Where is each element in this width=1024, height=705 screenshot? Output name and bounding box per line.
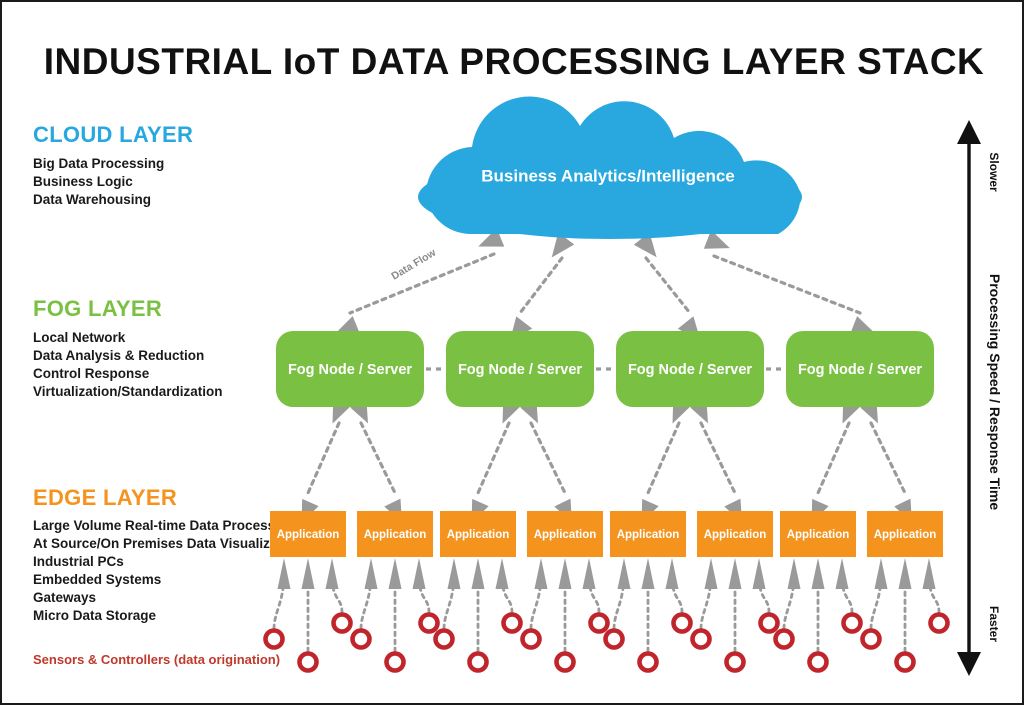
sensor-link-arrow <box>413 558 426 589</box>
app-fog-link <box>478 423 509 493</box>
sensor-node-22[interactable] <box>897 654 914 671</box>
axis-middle-label: Processing Speed / Response Time <box>987 274 1003 510</box>
fog-bullet-0: Local Network <box>33 330 126 345</box>
application-node-6[interactable]: Application <box>780 511 856 557</box>
sensor-link-arrow <box>899 558 912 589</box>
app-fog-link <box>531 423 565 493</box>
sensor-node-2[interactable] <box>334 615 351 632</box>
sidebar-section-edge: EDGE LAYER Large Volume Real-time Data P… <box>33 485 302 667</box>
sidebar-section-fog: FOG LAYER Local Network Data Analysis & … <box>33 296 223 399</box>
sensor-link-arrow <box>729 558 742 589</box>
sensor-link-arrow <box>535 558 548 589</box>
sensor-link-arrow <box>496 558 509 589</box>
application-node-group: ApplicationApplicationApplicationApplica… <box>270 511 943 557</box>
fog-cloud-arrow-up <box>704 230 734 257</box>
application-label: Application <box>617 529 680 541</box>
sensor-node-12[interactable] <box>606 631 623 648</box>
sensor-node-1[interactable] <box>300 654 317 671</box>
fog-cloud-link <box>714 256 860 313</box>
sensor-link-arrow <box>302 558 315 589</box>
sensor-link-arrow <box>365 558 378 589</box>
cloud-bullet-0: Big Data Processing <box>33 156 164 171</box>
fog-bullet-3: Virtualization/Standardization <box>33 384 223 399</box>
cloud-node[interactable]: Business Analytics/Intelligence <box>418 97 802 239</box>
edge-bullet-5: Micro Data Storage <box>33 608 157 623</box>
application-node-0[interactable]: Application <box>270 511 346 557</box>
sensor-link-arrow <box>812 558 825 589</box>
data-flow-label: Data Flow <box>389 246 438 282</box>
sensor-node-10[interactable] <box>557 654 574 671</box>
sensor-link-arrow <box>472 558 485 589</box>
sensor-link-arrow <box>923 558 936 589</box>
edge-bullet-2: Industrial PCs <box>33 554 124 569</box>
sensor-node-15[interactable] <box>693 631 710 648</box>
app-fog-link <box>308 423 339 493</box>
fog-node-group: Fog Node / ServerFog Node / ServerFog No… <box>276 331 934 407</box>
sensor-link-arrow <box>642 558 655 589</box>
sensor-link-arrow <box>875 558 888 589</box>
edge-bullet-1: At Source/On Premises Data Visualization <box>33 536 302 551</box>
app-fog-link <box>648 423 679 493</box>
application-node-4[interactable]: Application <box>610 511 686 557</box>
sensor-node-17[interactable] <box>761 615 778 632</box>
page-title: INDUSTRIAL IoT DATA PROCESSING LAYER STA… <box>44 41 985 82</box>
axis-top-label: Slower <box>987 152 1001 192</box>
sensor-link-arrow <box>836 558 849 589</box>
fog-node-1[interactable]: Fog Node / Server <box>446 331 594 407</box>
application-label: Application <box>364 529 427 541</box>
application-label: Application <box>534 529 597 541</box>
application-label: Application <box>874 529 937 541</box>
sensor-link-arrow <box>788 558 801 589</box>
fog-node-0[interactable]: Fog Node / Server <box>276 331 424 407</box>
sidebar-section-cloud: CLOUD LAYER Big Data Processing Business… <box>33 122 193 207</box>
sensor-node-5[interactable] <box>421 615 438 632</box>
sensor-link-arrow <box>583 558 596 589</box>
sensor-node-20[interactable] <box>844 615 861 632</box>
fog-bullet-1: Data Analysis & Reduction <box>33 348 204 363</box>
app-fog-link <box>361 423 395 493</box>
sensor-link-arrow <box>618 558 631 589</box>
sensor-node-9[interactable] <box>523 631 540 648</box>
sensor-node-7[interactable] <box>470 654 487 671</box>
cloud-node-label: Business Analytics/Intelligence <box>481 166 735 185</box>
sensor-link-arrow <box>559 558 572 589</box>
edge-bullet-3: Embedded Systems <box>33 572 161 587</box>
sensor-node-19[interactable] <box>810 654 827 671</box>
application-node-2[interactable]: Application <box>440 511 516 557</box>
application-label: Application <box>277 529 340 541</box>
sensor-node-13[interactable] <box>640 654 657 671</box>
cloud-bullet-2: Data Warehousing <box>33 192 151 207</box>
sensor-node-18[interactable] <box>776 631 793 648</box>
sensor-link-arrow <box>753 558 766 589</box>
sensor-node-group <box>266 615 948 671</box>
fog-cloud-link <box>520 258 562 313</box>
fog-layer-heading: FOG LAYER <box>33 296 162 321</box>
axis-arrow-down <box>957 652 981 676</box>
sensor-node-23[interactable] <box>931 615 948 632</box>
fog-node-label: Fog Node / Server <box>458 362 582 378</box>
fog-bullet-2: Control Response <box>33 366 150 381</box>
application-label: Application <box>787 529 850 541</box>
fog-node-2[interactable]: Fog Node / Server <box>616 331 764 407</box>
iiot-layer-stack-diagram: INDUSTRIAL IoT DATA PROCESSING LAYER STA… <box>2 2 1024 705</box>
sensor-node-14[interactable] <box>674 615 691 632</box>
sensor-link-arrow <box>666 558 679 589</box>
application-label: Application <box>704 529 767 541</box>
edge-bullet-4: Gateways <box>33 590 96 605</box>
processing-speed-axis: Slower Processing Speed / Response Time … <box>957 120 1003 676</box>
cloud-bullet-1: Business Logic <box>33 174 133 189</box>
fog-node-label: Fog Node / Server <box>288 362 412 378</box>
edge-bullet-0: Large Volume Real-time Data Processing <box>33 518 295 533</box>
app-fog-link <box>818 423 849 493</box>
sensor-node-11[interactable] <box>591 615 608 632</box>
sensors-controllers-note: Sensors & Controllers (data origination) <box>33 652 280 667</box>
edge-layer-heading: EDGE LAYER <box>33 485 177 510</box>
sensor-node-8[interactable] <box>504 615 521 632</box>
sensor-node-3[interactable] <box>353 631 370 648</box>
axis-bottom-label: Faster <box>987 606 1001 642</box>
fog-node-label: Fog Node / Server <box>798 362 922 378</box>
app-fog-link <box>701 423 735 493</box>
sensor-link-arrow <box>389 558 402 589</box>
fog-to-cloud-connectors <box>330 228 879 347</box>
axis-arrow-up <box>957 120 981 144</box>
sensor-node-21[interactable] <box>863 631 880 648</box>
fog-node-3[interactable]: Fog Node / Server <box>786 331 934 407</box>
sensor-node-6[interactable] <box>436 631 453 648</box>
sensor-node-4[interactable] <box>387 654 404 671</box>
application-label: Application <box>447 529 510 541</box>
sensor-link-arrow <box>448 558 461 589</box>
fog-node-label: Fog Node / Server <box>628 362 752 378</box>
application-node-5[interactable]: Application <box>697 511 773 557</box>
sensor-node-16[interactable] <box>727 654 744 671</box>
cloud-layer-heading: CLOUD LAYER <box>33 122 193 147</box>
application-to-fog-connectors <box>293 400 920 527</box>
sensor-link-arrow <box>278 558 291 589</box>
diagram-canvas: INDUSTRIAL IoT DATA PROCESSING LAYER STA… <box>0 0 1024 705</box>
sensor-link-arrow <box>705 558 718 589</box>
application-node-7[interactable]: Application <box>867 511 943 557</box>
sensor-node-0[interactable] <box>266 631 283 648</box>
application-node-1[interactable]: Application <box>357 511 433 557</box>
sensor-link-arrow <box>326 558 339 589</box>
fog-cloud-link <box>646 258 690 313</box>
app-fog-link <box>871 423 905 493</box>
application-node-3[interactable]: Application <box>527 511 603 557</box>
